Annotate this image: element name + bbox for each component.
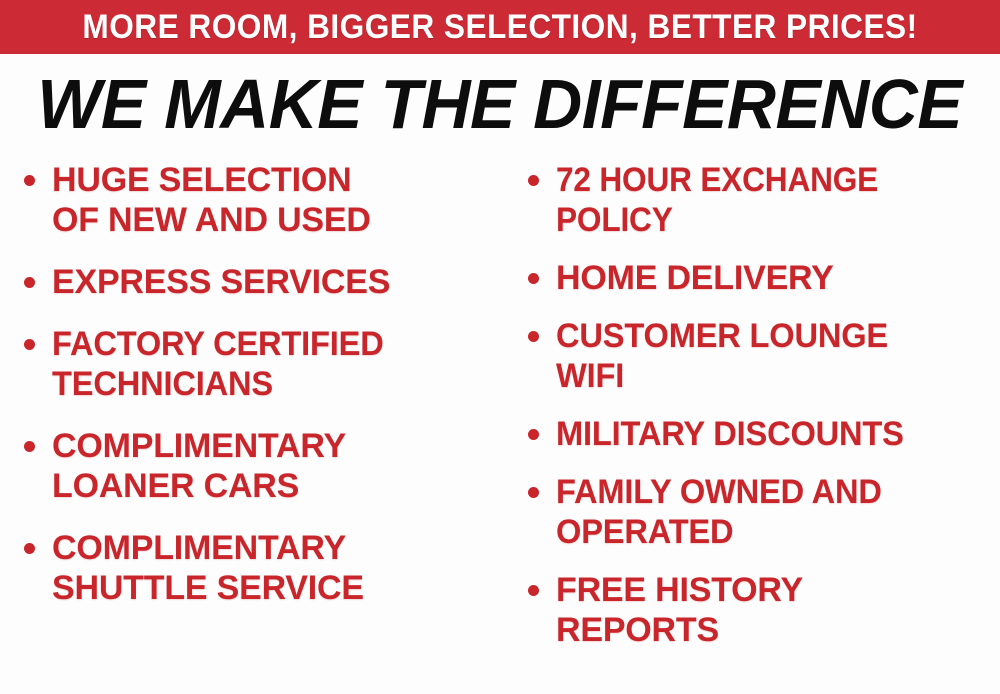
list-item: FREE HISTORY REPORTS (522, 570, 998, 650)
list-item: HUGE SELECTION OF NEW AND USED (18, 160, 494, 240)
list-item-label: HOME DELIVERY (556, 258, 998, 298)
list-item-label: COMPLIMENTARY LOANER CARS (52, 426, 494, 506)
bullet-dot-icon (24, 339, 35, 350)
bullet-dot-icon (528, 429, 539, 440)
list-item-label: FAMILY OWNED AND OPERATED (556, 472, 980, 552)
list-item-label: FREE HISTORY REPORTS (556, 570, 998, 650)
headline: WE MAKE THE DIFFERENCE (0, 68, 1000, 140)
bullet-dot-icon (528, 487, 539, 498)
list-item-label: MILITARY DISCOUNTS (556, 414, 980, 454)
list-item-label: COMPLIMENTARY SHUTTLE SERVICE (52, 528, 494, 608)
benefits-column-right: 72 HOUR EXCHANGE POLICY HOME DELIVERY CU… (500, 160, 1000, 650)
list-item: FAMILY OWNED AND OPERATED (522, 472, 998, 552)
list-item: CUSTOMER LOUNGE WIFI (522, 316, 998, 396)
bullet-dot-icon (24, 543, 35, 554)
list-item: MILITARY DISCOUNTS (522, 414, 998, 454)
bullet-dot-icon (528, 273, 539, 284)
bullet-dot-icon (528, 175, 539, 186)
bullet-dot-icon (528, 331, 539, 342)
advertisement-banner: MORE ROOM, BIGGER SELECTION, BETTER PRIC… (0, 0, 1000, 694)
promo-banner: MORE ROOM, BIGGER SELECTION, BETTER PRIC… (0, 0, 1000, 54)
benefits-column-left: HUGE SELECTION OF NEW AND USED EXPRESS S… (0, 160, 500, 608)
bullet-dot-icon (24, 277, 35, 288)
list-item: FACTORY CERTIFIED TECHNICIANS (18, 324, 494, 404)
list-item-label: EXPRESS SERVICES (52, 262, 494, 302)
bullet-dot-icon (24, 441, 35, 452)
list-item-label: HUGE SELECTION OF NEW AND USED (52, 160, 494, 240)
list-item: EXPRESS SERVICES (18, 262, 494, 302)
headline-text: WE MAKE THE DIFFERENCE (38, 68, 963, 140)
list-item: 72 HOUR EXCHANGE POLICY (522, 160, 998, 240)
bullet-dot-icon (24, 175, 35, 186)
list-item-label: 72 HOUR EXCHANGE POLICY (556, 160, 967, 240)
list-item-label: CUSTOMER LOUNGE WIFI (556, 316, 980, 396)
list-item: HOME DELIVERY (522, 258, 998, 298)
list-item: COMPLIMENTARY LOANER CARS (18, 426, 494, 506)
list-item-label: FACTORY CERTIFIED TECHNICIANS (52, 324, 476, 404)
promo-banner-text: MORE ROOM, BIGGER SELECTION, BETTER PRIC… (82, 10, 917, 44)
benefits-columns: HUGE SELECTION OF NEW AND USED EXPRESS S… (0, 160, 1000, 694)
list-item: COMPLIMENTARY SHUTTLE SERVICE (18, 528, 494, 608)
bullet-dot-icon (528, 585, 539, 596)
